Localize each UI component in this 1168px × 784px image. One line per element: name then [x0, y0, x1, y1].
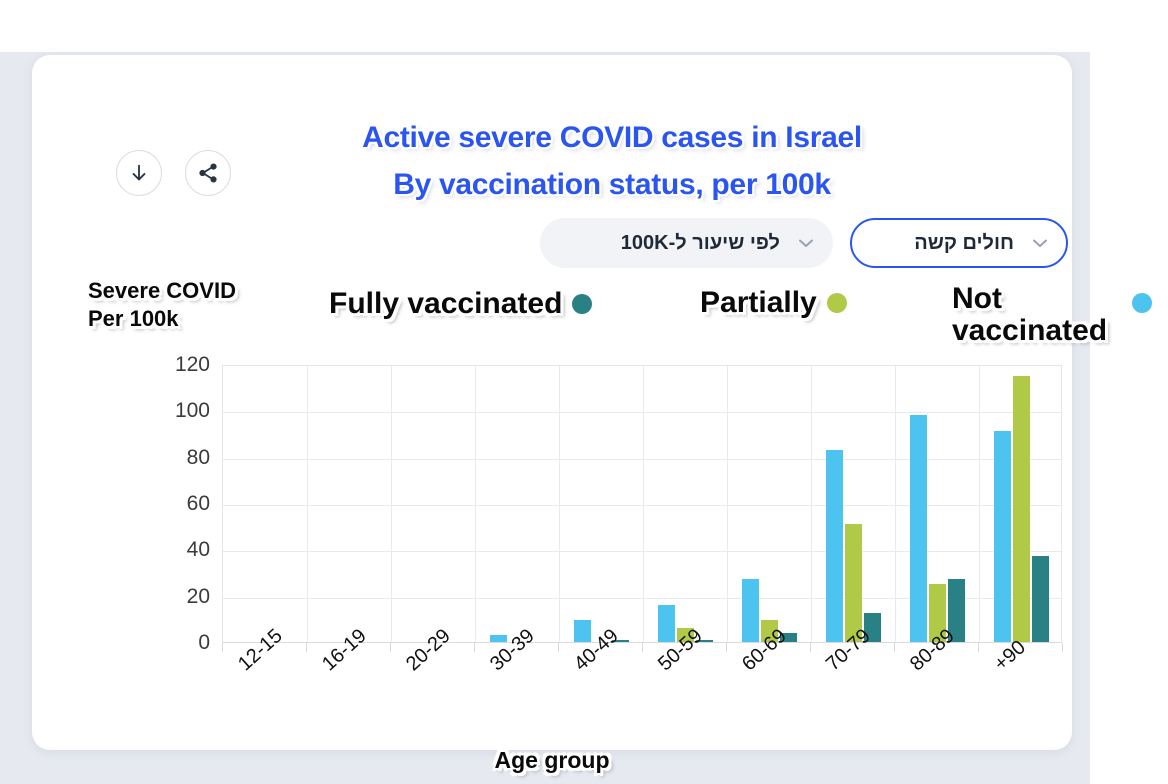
x-axis-tick-mark — [810, 643, 811, 652]
gridline-horizontal — [223, 551, 1061, 552]
y-axis-tick-label: 0 — [92, 631, 210, 655]
bar[interactable] — [1013, 376, 1030, 642]
bar[interactable] — [910, 415, 927, 642]
gridline-vertical — [895, 366, 896, 642]
gridline-horizontal — [223, 459, 1061, 460]
bar[interactable] — [994, 431, 1011, 642]
y-axis-tick-label: 80 — [92, 446, 210, 470]
y-axis-title-line-1: Severe COVID — [88, 277, 278, 305]
legend-color-swatch — [572, 294, 592, 314]
gridline-vertical — [307, 366, 308, 642]
y-axis-tick-label: 20 — [92, 585, 210, 609]
plot-area — [222, 365, 1062, 643]
gridline-vertical — [559, 366, 560, 642]
y-axis-tick-label: 60 — [92, 492, 210, 516]
x-axis-tick-mark — [306, 643, 307, 652]
gridline-vertical — [475, 366, 476, 642]
legend-label: Fully vaccinated — [329, 288, 562, 320]
gridline-vertical — [643, 366, 644, 642]
y-axis-tick-label: 40 — [92, 538, 210, 562]
legend-label: Partially — [700, 287, 817, 319]
x-axis-tick-mark — [894, 643, 895, 652]
bar[interactable] — [1032, 556, 1049, 642]
x-axis-tick-mark — [1062, 643, 1063, 652]
gridline-vertical — [811, 366, 812, 642]
x-axis-tick-mark — [978, 643, 979, 652]
x-axis-tick-mark — [222, 643, 223, 652]
legend-item-partially: Partially — [700, 287, 847, 319]
legend-item-not-vaccinated: Not vaccinated — [952, 283, 1152, 346]
y-axis-title: Severe COVID Per 100k — [88, 277, 278, 332]
legend-color-swatch — [827, 293, 847, 313]
bar[interactable] — [658, 605, 675, 642]
x-axis-tick-mark — [474, 643, 475, 652]
legend-item-fully-vaccinated: Fully vaccinated — [329, 288, 592, 320]
page-background-right-margin — [1090, 0, 1168, 784]
x-axis-tick-mark — [642, 643, 643, 652]
chart-card: Active severe COVID cases in Israel By v… — [32, 55, 1072, 750]
x-axis-tick-mark — [390, 643, 391, 652]
gridline-vertical — [391, 366, 392, 642]
y-axis-tick-label: 120 — [92, 353, 210, 377]
x-axis-tick-mark — [726, 643, 727, 652]
screenshot-root: Active severe COVID cases in Israel By v… — [0, 0, 1168, 784]
x-axis-title: Age group — [32, 747, 1072, 774]
y-axis-title-line-2: Per 100k — [88, 305, 278, 333]
plot-wrapper: 020406080100120 12-1516-1920-2930-3940-4… — [32, 55, 1072, 750]
legend-color-swatch — [1132, 293, 1152, 313]
bar[interactable] — [574, 620, 591, 642]
gridline-horizontal — [223, 505, 1061, 506]
x-axis-tick-mark — [558, 643, 559, 652]
gridline-horizontal — [223, 412, 1061, 413]
gridline-vertical — [979, 366, 980, 642]
bar[interactable] — [826, 450, 843, 642]
gridline-vertical — [727, 366, 728, 642]
y-axis-tick-label: 100 — [92, 399, 210, 423]
legend-label: Not vaccinated — [952, 283, 1122, 346]
bar[interactable] — [742, 579, 759, 642]
